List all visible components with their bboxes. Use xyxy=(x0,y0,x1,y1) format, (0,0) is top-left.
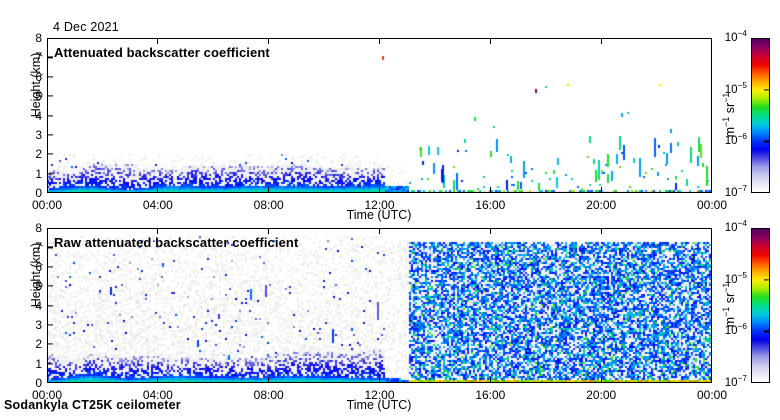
y-tick-mark xyxy=(47,154,53,155)
y-tick-mark xyxy=(47,344,53,345)
y-tick-mark xyxy=(47,76,53,77)
y-tick-label: 2 xyxy=(35,147,42,161)
x-tick-label: 16:00 xyxy=(475,198,505,212)
panel-frame xyxy=(47,38,712,193)
colorbar-upper xyxy=(751,38,770,193)
y-axis-label-lower: Height (km) xyxy=(29,220,43,330)
colorbar-label-lower: m−1 sr−1 xyxy=(723,250,737,360)
y-tick-mark xyxy=(47,286,53,287)
x-tick-mark xyxy=(379,228,380,234)
y-tick-mark xyxy=(47,57,53,58)
panel-frame xyxy=(47,228,712,383)
panel-title-attenuated: Attenuated backscatter coefficient xyxy=(54,45,270,60)
x-tick-mark xyxy=(157,38,158,44)
x-tick-mark xyxy=(268,187,269,193)
x-tick-mark xyxy=(601,187,602,193)
colorbar-tick-mark xyxy=(764,89,769,90)
x-tick-label: 16:00 xyxy=(475,388,505,402)
colorbar-tick-label: 10−4 xyxy=(725,32,747,44)
x-tick-mark xyxy=(379,38,380,44)
x-tick-label: 00:00 xyxy=(32,198,62,212)
x-tick-label: 08:00 xyxy=(254,198,284,212)
y-tick-mark xyxy=(47,173,53,174)
y-tick-label: 1 xyxy=(35,167,42,181)
colorbar-tick-label: 10−7 xyxy=(725,187,747,199)
colorbar-tick-mark xyxy=(764,279,769,280)
x-tick-label: 04:00 xyxy=(143,198,173,212)
x-tick-mark xyxy=(601,377,602,383)
colorbar-lower xyxy=(751,228,770,383)
x-tick-label: 20:00 xyxy=(586,198,616,212)
x-tick-mark xyxy=(601,228,602,234)
y-tick-mark xyxy=(47,305,53,306)
x-tick-mark xyxy=(268,38,269,44)
y-tick-mark xyxy=(47,363,53,364)
x-tick-label: 00:00 xyxy=(697,388,727,402)
y-tick-label: 1 xyxy=(35,357,42,371)
y-tick-label: 2 xyxy=(35,337,42,351)
colorbar-tick-label: 10−7 xyxy=(725,377,747,389)
panel-title-raw: Raw attenuated backscatter coefficient xyxy=(54,235,298,250)
y-tick-mark xyxy=(47,115,53,116)
y-tick-mark xyxy=(47,266,53,267)
panel-raw-backscatter: Raw attenuated backscatter coefficient 0… xyxy=(47,228,712,383)
x-tick-mark xyxy=(379,187,380,193)
x-tick-mark xyxy=(157,228,158,234)
x-tick-mark xyxy=(490,187,491,193)
x-tick-label: 20:00 xyxy=(586,388,616,402)
x-axis-label-upper: Time (UTC) xyxy=(347,208,412,222)
colorbar-tick-mark xyxy=(764,141,769,142)
x-axis-label-lower: Time (UTC) xyxy=(347,398,412,412)
x-tick-mark xyxy=(157,187,158,193)
x-tick-mark xyxy=(490,377,491,383)
colorbar-label-upper: m−1 sr−1 xyxy=(723,60,737,170)
ceilometer-figure: 4 Dec 2021 Attenuated backscatter coeffi… xyxy=(0,0,780,420)
instrument-footer: Sodankyla CT25K ceilometer xyxy=(4,398,181,412)
panel-attenuated-backscatter: Attenuated backscatter coefficient 01234… xyxy=(47,38,712,193)
y-tick-mark xyxy=(47,96,53,97)
x-tick-mark xyxy=(490,38,491,44)
y-tick-mark xyxy=(47,247,53,248)
x-tick-label: 00:00 xyxy=(697,198,727,212)
x-tick-mark xyxy=(601,38,602,44)
x-tick-mark xyxy=(157,377,158,383)
y-tick-mark xyxy=(47,324,53,325)
colorbar-tick-label: 10−4 xyxy=(725,222,747,234)
x-tick-label: 08:00 xyxy=(254,388,284,402)
y-axis-label-upper: Height (km) xyxy=(29,30,43,140)
x-tick-mark xyxy=(379,377,380,383)
x-tick-mark xyxy=(268,377,269,383)
x-tick-mark xyxy=(490,228,491,234)
date-label: 4 Dec 2021 xyxy=(53,20,119,34)
x-tick-mark xyxy=(268,228,269,234)
colorbar-tick-mark xyxy=(764,331,769,332)
y-tick-mark xyxy=(47,134,53,135)
